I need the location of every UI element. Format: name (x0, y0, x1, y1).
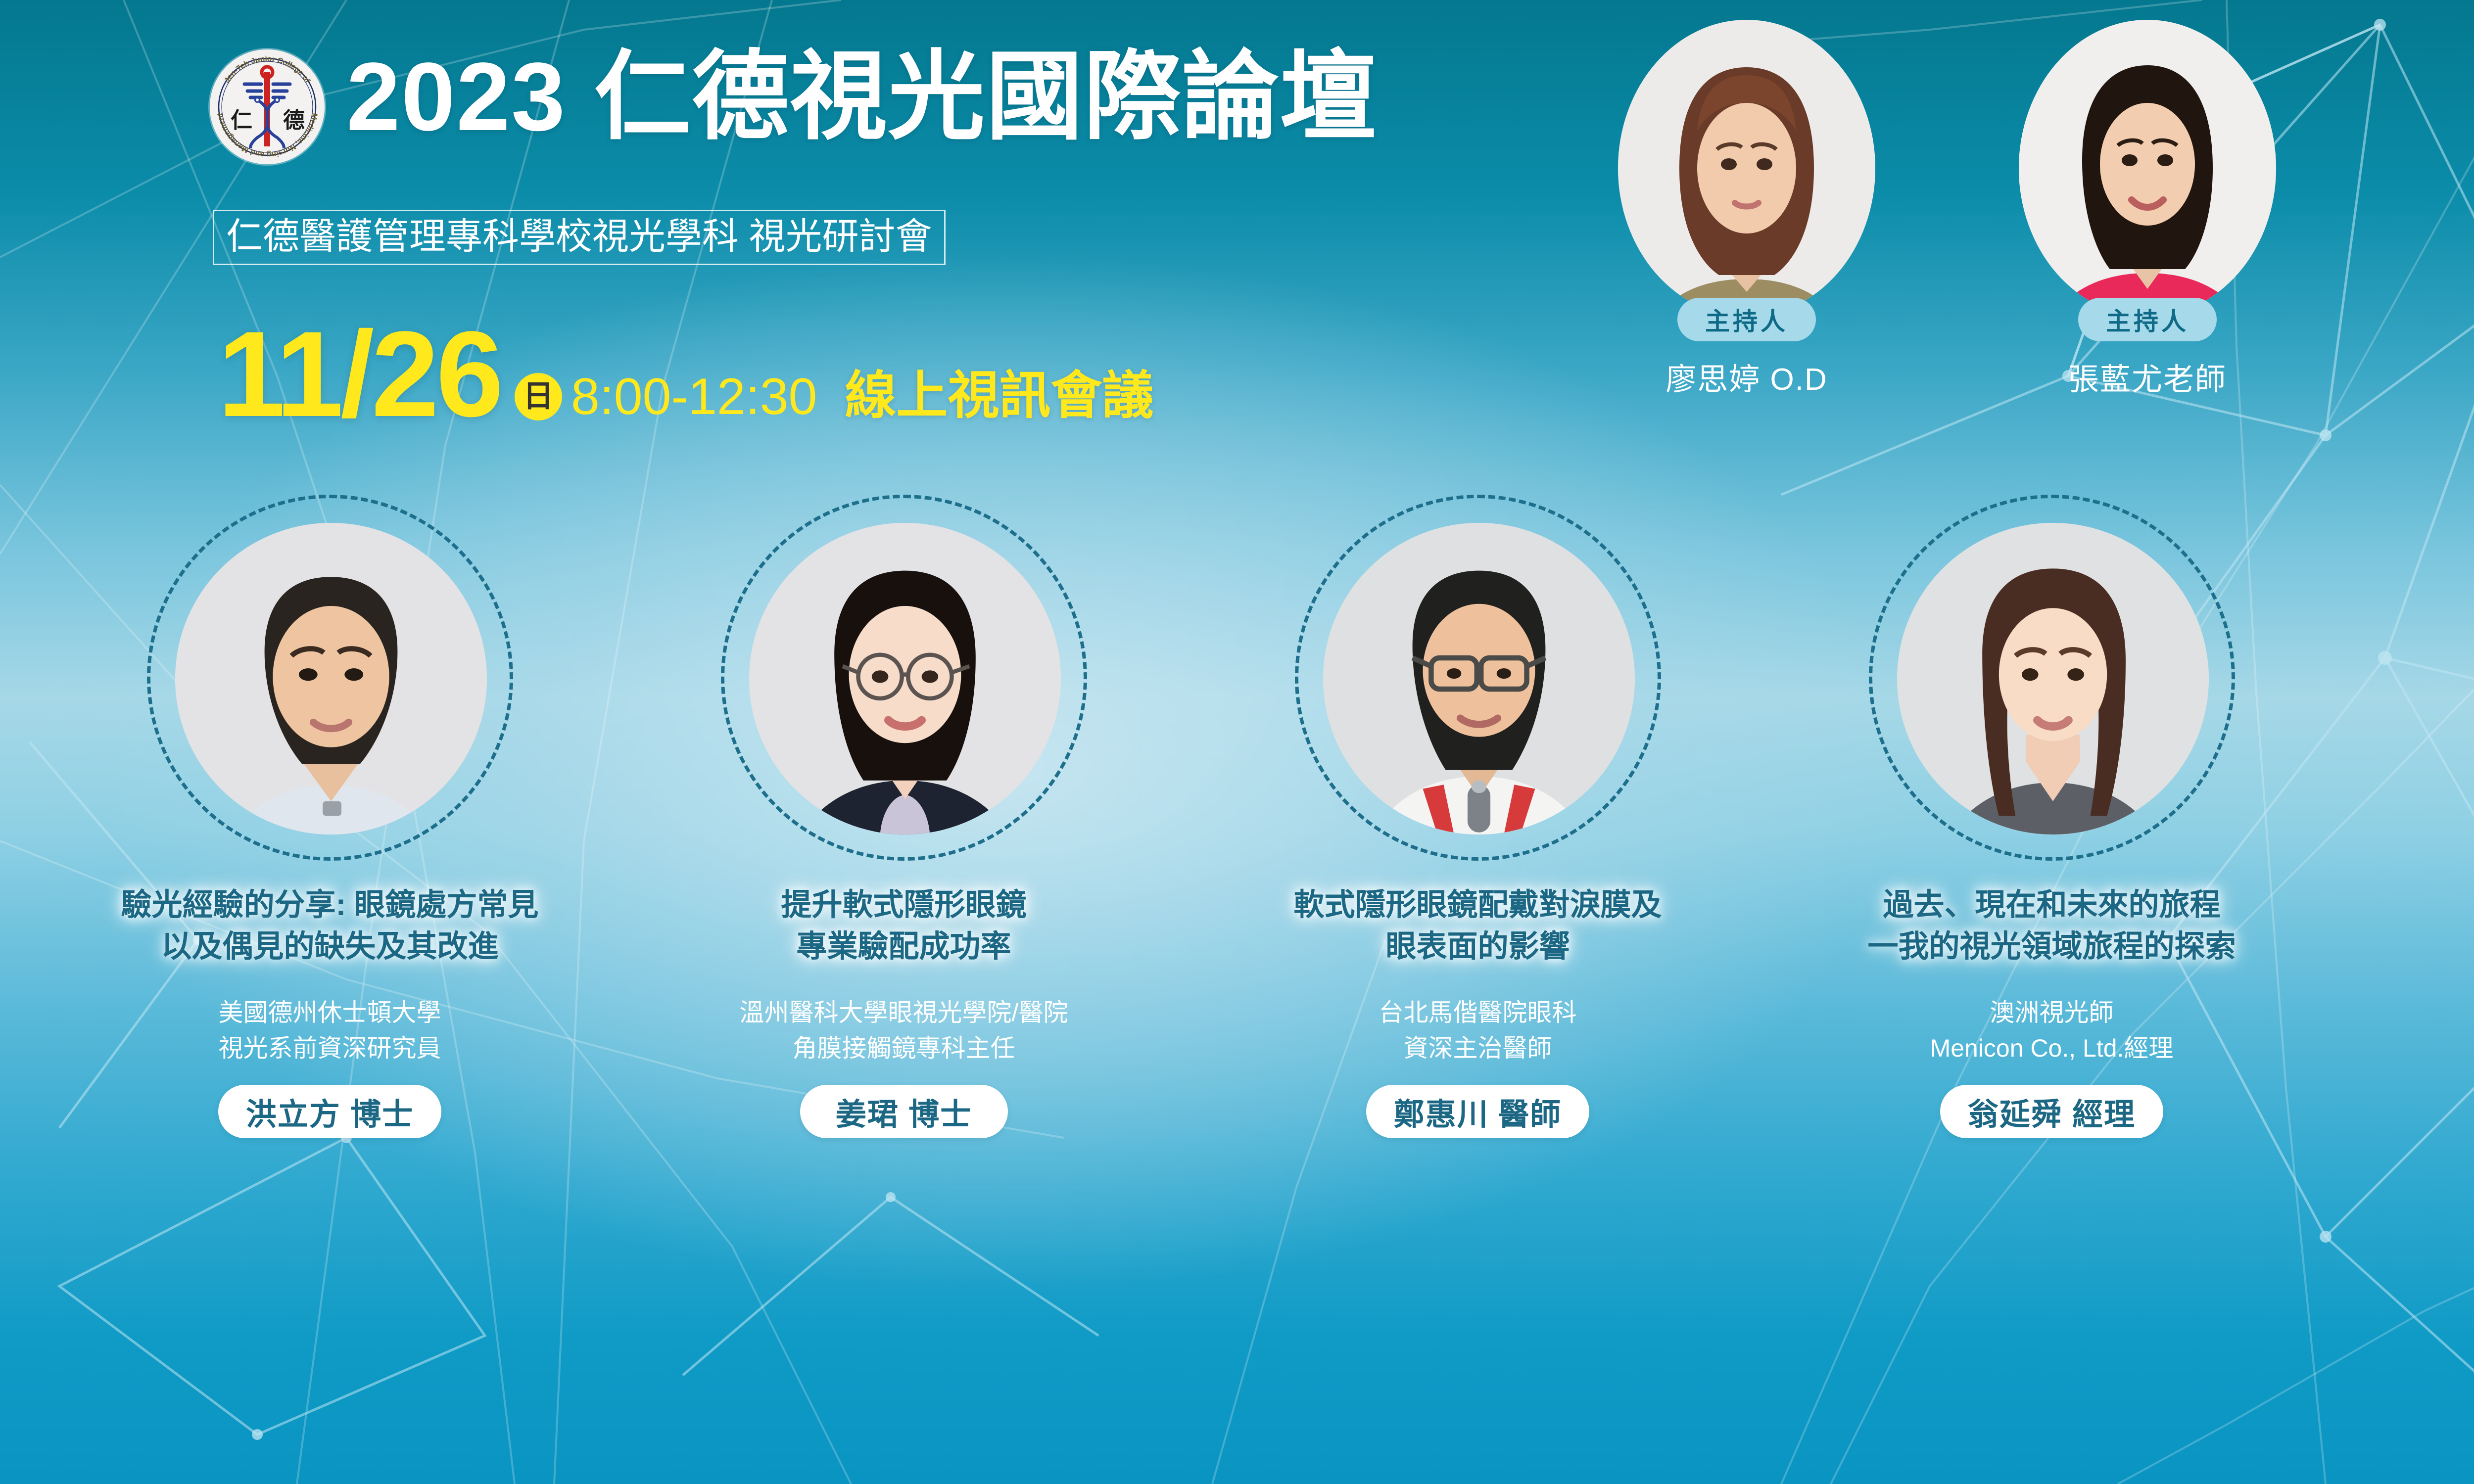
host-name: 張藍尤老師 (2009, 354, 2286, 399)
speaker-group: 驗光經驗的分享: 眼鏡處方常見 以及偶見的缺失及其改進 美國德州休士頓大學 視光… (0, 495, 2474, 1484)
speaker-portrait-3 (1323, 523, 1635, 835)
speaker-topic-line2: 眼表面的影響 (1148, 926, 1808, 968)
speaker-topic-line1: 過去、現在和未來的旅程 (1722, 884, 2381, 926)
svg-text:仁: 仁 (231, 108, 252, 133)
logo-graphic: Jen-Teh Junior College of Medicine, Nurs… (210, 49, 325, 164)
speaker-affiliation-line2: 角膜接觸鏡專科主任 (574, 1030, 1234, 1066)
event-venue: 線上視訊會議 (845, 370, 1153, 421)
speaker-topic-line2: 專業驗配成功率 (574, 926, 1234, 968)
speaker-avatar (749, 523, 1061, 835)
school-logo: Jen-Teh Junior College of Medicine, Nurs… (210, 49, 325, 164)
event-time: 8:00-12:30 (571, 371, 817, 422)
host-role-badge: 主持人 (1677, 298, 1816, 341)
speaker-portrait-1 (175, 523, 487, 835)
host-portrait-2 (2019, 20, 2276, 317)
speaker-affiliation-line1: 台北馬偕醫院眼科 (1148, 995, 1808, 1030)
speaker-portrait-2 (749, 523, 1061, 835)
subtitle-box: 仁德醫護管理專科學校視光學科 視光研討會 (213, 210, 946, 265)
svg-text:德: 德 (283, 108, 305, 133)
host-avatar (2019, 20, 2276, 317)
speaker-photo-ring (1295, 495, 1661, 861)
speaker-affiliation: 澳洲視光師 Menicon Co., Ltd.經理 (1722, 995, 2381, 1066)
host-name: 廖思婷 O.D (1608, 354, 1885, 399)
speaker-name-badge: 姜珺 博士 (800, 1085, 1008, 1138)
speaker-affiliation-line1: 美國德州休士頓大學 (0, 995, 660, 1030)
weekday-badge: 日 (515, 373, 562, 420)
page-title: 2023 仁德視光國際論壇 (346, 48, 1378, 145)
host-avatar (1618, 20, 1875, 317)
speaker-affiliation-line2: Menicon Co., Ltd.經理 (1722, 1030, 2381, 1066)
speaker-card: 提升軟式隱形眼鏡 專業驗配成功率 溫州醫科大學眼視光學院/醫院 角膜接觸鏡專科主… (574, 495, 1234, 1138)
speaker-photo-ring (1869, 495, 2235, 861)
speaker-avatar (1897, 523, 2209, 835)
host-group: 主持人 廖思婷 O.D 主持人 張藍 (1578, 20, 2474, 475)
speaker-affiliation: 溫州醫科大學眼視光學院/醫院 角膜接觸鏡專科主任 (574, 995, 1234, 1066)
speaker-topic-line1: 軟式隱形眼鏡配戴對淚膜及 (1148, 884, 1808, 926)
host-portrait-1 (1618, 20, 1875, 317)
speaker-avatar (175, 523, 487, 835)
speaker-affiliation-line2: 資深主治醫師 (1148, 1030, 1808, 1066)
speaker-affiliation-line1: 溫州醫科大學眼視光學院/醫院 (574, 995, 1234, 1030)
speaker-name-badge: 鄭惠川 醫師 (1366, 1085, 1589, 1138)
event-dateline: 11/26 日 8:00-12:30 線上視訊會議 (218, 317, 1153, 432)
speaker-topic: 軟式隱形眼鏡配戴對淚膜及 眼表面的影響 (1148, 884, 1808, 968)
speaker-affiliation: 台北馬偕醫院眼科 資深主治醫師 (1148, 995, 1808, 1066)
speaker-topic-line1: 提升軟式隱形眼鏡 (574, 884, 1234, 926)
host-card: 主持人 張藍尤老師 (2009, 20, 2286, 399)
speaker-portrait-4 (1897, 523, 2209, 835)
speaker-topic: 驗光經驗的分享: 眼鏡處方常見 以及偶見的缺失及其改進 (0, 884, 660, 968)
speaker-affiliation: 美國德州休士頓大學 視光系前資深研究員 (0, 995, 660, 1066)
speaker-topic-line2: 一我的視光領域旅程的探索 (1722, 926, 2381, 968)
speaker-topic-line2: 以及偶見的缺失及其改進 (0, 926, 660, 968)
speaker-name-badge: 洪立方 博士 (218, 1085, 441, 1138)
host-card: 主持人 廖思婷 O.D (1608, 20, 1885, 399)
speaker-topic-line1: 驗光經驗的分享: 眼鏡處方常見 (0, 884, 660, 926)
speaker-card: 軟式隱形眼鏡配戴對淚膜及 眼表面的影響 台北馬偕醫院眼科 資深主治醫師 鄭惠川 … (1148, 495, 1808, 1138)
speaker-name-badge: 翁延舜 經理 (1940, 1085, 2163, 1138)
speaker-card: 過去、現在和未來的旅程 一我的視光領域旅程的探索 澳洲視光師 Menicon C… (1722, 495, 2381, 1138)
speaker-photo-ring (721, 495, 1087, 861)
speaker-affiliation-line2: 視光系前資深研究員 (0, 1030, 660, 1066)
speaker-photo-ring (147, 495, 513, 861)
speaker-topic: 過去、現在和未來的旅程 一我的視光領域旅程的探索 (1722, 884, 2381, 968)
speaker-topic: 提升軟式隱形眼鏡 專業驗配成功率 (574, 884, 1234, 968)
event-date: 11/26 (218, 317, 501, 432)
speaker-card: 驗光經驗的分享: 眼鏡處方常見 以及偶見的缺失及其改進 美國德州休士頓大學 視光… (0, 495, 660, 1138)
poster-canvas: Jen-Teh Junior College of Medicine, Nurs… (0, 0, 2474, 1484)
speaker-affiliation-line1: 澳洲視光師 (1722, 995, 2381, 1030)
event-subtitle: 仁德醫護管理專科學校視光學科 視光研討會 (226, 218, 932, 255)
host-role-badge: 主持人 (2078, 298, 2217, 341)
speaker-avatar (1323, 523, 1635, 835)
